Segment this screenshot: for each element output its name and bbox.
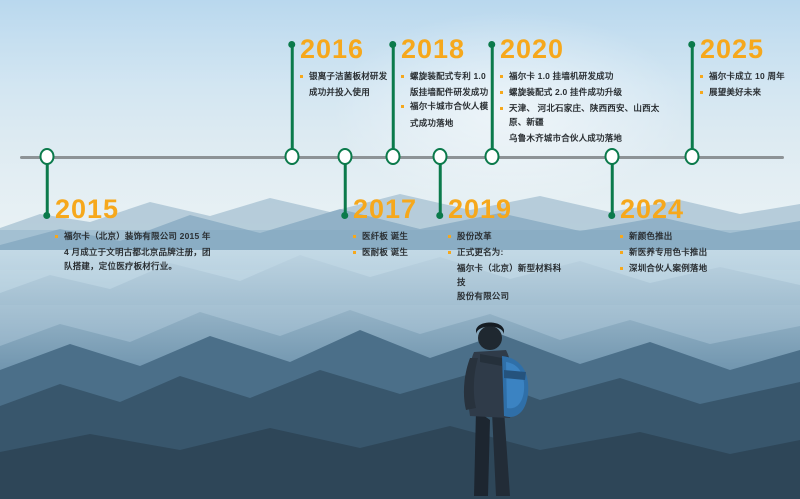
mountain-ridge-near-2 <box>0 360 800 499</box>
list-item: 螺旋装配式 2.0 挂件成功升级 <box>500 86 675 99</box>
node-marker-2015[interactable] <box>40 148 55 165</box>
bullet-list-2024: 新颜色推出 新医养专用色卡推出 深圳合伙人案例落地 <box>620 230 740 276</box>
milestone-block-2020: 2020 福尔卡 1.0 挂墙机研发成功 螺旋装配式 2.0 挂件成功升级 天津… <box>500 36 675 146</box>
list-item: 银离子洁菌板材研发 <box>300 70 405 83</box>
timeline-infographic: 2016 银离子洁菌板材研发 成功并投入使用 2018 螺旋装配式专利 1.0 … <box>0 0 800 499</box>
node-marker-2017[interactable] <box>338 148 353 165</box>
list-item: 医耐板 诞生 <box>353 246 453 259</box>
stem-2019 <box>439 158 442 216</box>
list-item: 福尔卡 1.0 挂墙机研发成功 <box>500 70 675 83</box>
node-marker-2020[interactable] <box>485 148 500 165</box>
node-marker-2018[interactable] <box>386 148 401 165</box>
list-item: 福尔卡（北京）装饰有限公司 2015 年 <box>55 230 215 243</box>
stem-2018 <box>392 44 395 156</box>
timeline-axis <box>20 156 784 159</box>
node-marker-2016[interactable] <box>285 148 300 165</box>
bullet-list-2015: 福尔卡（北京）装饰有限公司 2015 年 4 月成立于文明古都北京品牌注册，团 … <box>55 230 215 274</box>
list-item: 深圳合伙人案例落地 <box>620 262 740 275</box>
list-item: 天津、 河北石家庄、陕西西安、山西太原、新疆 <box>500 102 675 128</box>
bullet-list-2025: 福尔卡成立 10 周年 展望美好未来 <box>700 70 800 99</box>
bullet-list-2017: 医纤板 诞生 医耐板 诞生 <box>353 230 453 259</box>
bullet-list-2016: 银离子洁菌板材研发 成功并投入使用 <box>300 70 405 99</box>
list-item: 新医养专用色卡推出 <box>620 246 740 259</box>
list-item: 队搭建，定位医疗板材行业。 <box>55 260 215 273</box>
milestone-block-2015: 2015 福尔卡（北京）装饰有限公司 2015 年 4 月成立于文明古都北京品牌… <box>55 196 215 275</box>
year-label-2020: 2020 <box>500 36 675 63</box>
year-label-2025: 2025 <box>700 36 800 63</box>
stem-2025 <box>691 44 694 156</box>
stem-2017 <box>344 158 347 216</box>
year-label-2016: 2016 <box>300 36 405 63</box>
node-marker-2024[interactable] <box>605 148 620 165</box>
milestone-block-2025: 2025 福尔卡成立 10 周年 展望美好未来 <box>700 36 800 102</box>
list-item: 成功并投入使用 <box>300 86 405 99</box>
list-item: 新颜色推出 <box>620 230 740 243</box>
list-item: 股份改革 <box>448 230 566 243</box>
list-item: 福尔卡成立 10 周年 <box>700 70 800 83</box>
list-item: 股份有限公司 <box>448 290 566 303</box>
node-marker-2025[interactable] <box>685 148 700 165</box>
list-item: 4 月成立于文明古都北京品牌注册，团 <box>55 246 215 259</box>
milestone-block-2019: 2019 股份改革 正式更名为: 福尔卡（北京）新型材料科技 股份有限公司 <box>448 196 566 304</box>
bullet-list-2019: 股份改革 正式更名为: 福尔卡（北京）新型材料科技 股份有限公司 <box>448 230 566 303</box>
list-item: 福尔卡（北京）新型材料科技 <box>448 262 566 288</box>
hiker-figure <box>430 300 560 499</box>
year-label-2024: 2024 <box>620 196 740 223</box>
list-item: 正式更名为: <box>448 246 566 259</box>
milestone-block-2024: 2024 新颜色推出 新医养专用色卡推出 深圳合伙人案例落地 <box>620 196 740 279</box>
stem-2020 <box>491 44 494 156</box>
year-label-2015: 2015 <box>55 196 215 223</box>
stem-2016 <box>291 44 294 156</box>
stem-2015 <box>46 158 49 216</box>
bullet-list-2020: 福尔卡 1.0 挂墙机研发成功 螺旋装配式 2.0 挂件成功升级 天津、 河北石… <box>500 70 675 145</box>
year-label-2019: 2019 <box>448 196 566 223</box>
list-item: 展望美好未来 <box>700 86 800 99</box>
list-item: 乌鲁木齐城市合伙人成功落地 <box>500 132 675 145</box>
node-marker-2019[interactable] <box>433 148 448 165</box>
stem-2024 <box>611 158 614 216</box>
list-item: 医纤板 诞生 <box>353 230 453 243</box>
